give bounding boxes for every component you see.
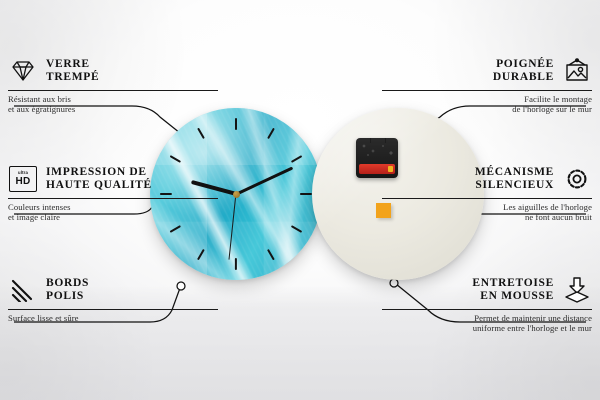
title-underline	[382, 309, 592, 310]
feature-description: Surface lisse et sûre	[8, 313, 218, 323]
center-cap	[233, 191, 240, 198]
feature-mecanisme-silencieux: MÉCANISME SILENCIEUX Les aiguilles de l'…	[382, 164, 592, 223]
feature-title: POIGNÉE DURABLE	[493, 58, 554, 84]
hanging-picture-icon	[562, 56, 592, 86]
ultra-hd-badge-icon: ultra HD	[8, 164, 38, 194]
feature-title: IMPRESSION DE HAUTE QUALITÉ	[46, 166, 152, 192]
title-underline	[8, 198, 218, 199]
feature-bords-polis: BORDS POLIS Surface lisse et sûre	[8, 275, 218, 323]
feature-title: MÉCANISME SILENCIEUX	[475, 166, 554, 192]
feature-description: Couleurs intenses et image claire	[8, 202, 218, 223]
feature-description: Les aiguilles de l'horloge ne font aucun…	[382, 202, 592, 223]
title-underline	[382, 198, 592, 199]
title-underline	[8, 90, 218, 91]
diagonal-lines-icon	[8, 275, 38, 305]
gear-icon	[562, 164, 592, 194]
mechanism-detail	[359, 142, 395, 158]
second-hand	[228, 194, 236, 260]
feature-verre-trempe: VERRE TREMPÉ Résistant aux bris et aux é…	[8, 56, 218, 115]
feature-entretoise-en-mousse: ENTRETOISE EN MOUSSE Permet de maintenir…	[382, 275, 592, 334]
arrow-down-onto-layer-icon	[562, 275, 592, 305]
feature-description: Facilite le montage de l'horloge sur le …	[382, 94, 592, 115]
diamond-icon	[8, 56, 38, 86]
feature-description: Permet de maintenir une distance uniform…	[382, 313, 592, 334]
feature-title: BORDS POLIS	[46, 277, 89, 303]
feature-title: VERRE TREMPÉ	[46, 58, 99, 84]
title-underline	[382, 90, 592, 91]
infographic-canvas: VERRE TREMPÉ Résistant aux bris et aux é…	[0, 0, 600, 400]
title-underline	[8, 309, 218, 310]
minute-hand	[235, 167, 292, 196]
feature-title: ENTRETOISE EN MOUSSE	[472, 277, 554, 303]
feature-impression-haute-qualite: ultra HD IMPRESSION DE HAUTE QUALITÉ Cou…	[8, 164, 218, 223]
feature-description: Résistant aux bris et aux égratignures	[8, 94, 218, 115]
feature-poignee-durable: POIGNÉE DURABLE Facilite le montage de	[382, 56, 592, 115]
